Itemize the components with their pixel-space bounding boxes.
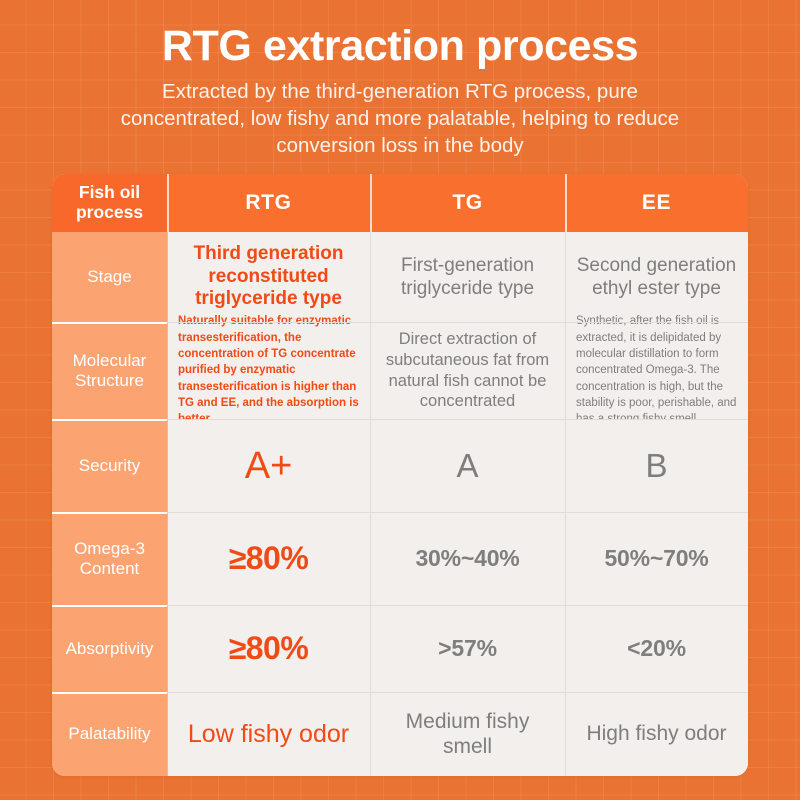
table-row-omega3-content: Omega-3 Content ≥80% 30%~40% 50%~70%	[52, 512, 748, 605]
table-row-security: Security A+ A B	[52, 419, 748, 512]
column-header-tg: TG	[370, 174, 565, 232]
cell-absorptivity-tg-text: >57%	[438, 635, 497, 662]
cell-stage-rtg-text: Third generation reconstituted triglycer…	[176, 243, 361, 311]
cell-palatability-ee: High fishy odor	[565, 692, 748, 776]
page-title: RTG extraction process	[0, 22, 800, 70]
table-header-row: Fish oil process RTG TG EE	[52, 174, 748, 232]
row-label-security: Security	[52, 419, 167, 512]
cell-molecular-rtg-text: Naturally suitable for enzymatic transes…	[176, 313, 361, 427]
comparison-table: Fish oil process RTG TG EE Stage Third g…	[52, 174, 748, 776]
cell-security-tg: A	[370, 419, 565, 512]
cell-omega3-rtg-text: ≥80%	[229, 540, 309, 577]
cell-molecular-ee-text: Synthetic, after the fish oil is extract…	[574, 313, 739, 427]
cell-molecular-ee: Synthetic, after the fish oil is extract…	[565, 322, 748, 419]
table-row-palatability: Palatability Low fishy odor Medium fishy…	[52, 692, 748, 776]
table-row-molecular-structure: Molecular Structure Naturally suitable f…	[52, 322, 748, 419]
cell-omega3-ee: 50%~70%	[565, 512, 748, 605]
column-header-ee: EE	[565, 174, 748, 232]
page-subtitle: Extracted by the third-generation RTG pr…	[0, 79, 800, 160]
cell-security-tg-text: A	[456, 449, 478, 482]
cell-absorptivity-ee: <20%	[565, 605, 748, 692]
row-label-molecular-structure: Molecular Structure	[52, 322, 167, 419]
cell-absorptivity-tg: >57%	[370, 605, 565, 692]
cell-palatability-tg: Medium fishy smell	[370, 692, 565, 776]
cell-omega3-rtg: ≥80%	[167, 512, 370, 605]
cell-omega3-ee-text: 50%~70%	[604, 545, 708, 572]
row-label-omega3-content: Omega-3 Content	[52, 512, 167, 605]
cell-security-ee-text: B	[645, 449, 667, 482]
row-label-stage: Stage	[52, 232, 167, 322]
cell-palatability-tg-text: Medium fishy smell	[379, 709, 556, 759]
cell-omega3-tg: 30%~40%	[370, 512, 565, 605]
cell-security-rtg: A+	[167, 419, 370, 512]
cell-palatability-rtg-text: Low fishy odor	[188, 720, 349, 749]
cell-absorptivity-rtg-text: ≥80%	[229, 630, 309, 667]
cell-molecular-rtg: Naturally suitable for enzymatic transes…	[167, 322, 370, 419]
page-header: RTG extraction process Extracted by the …	[0, 0, 800, 160]
cell-molecular-tg-text: Direct extraction of subcutaneous fat fr…	[379, 329, 556, 412]
column-header-rtg: RTG	[167, 174, 370, 232]
row-label-absorptivity: Absorptivity	[52, 605, 167, 692]
table-row-absorptivity: Absorptivity ≥80% >57% <20%	[52, 605, 748, 692]
table-row-stage: Stage Third generation reconstituted tri…	[52, 232, 748, 322]
cell-stage-rtg: Third generation reconstituted triglycer…	[167, 232, 370, 322]
cell-absorptivity-ee-text: <20%	[627, 635, 686, 662]
cell-omega3-tg-text: 30%~40%	[415, 545, 519, 572]
cell-palatability-ee-text: High fishy odor	[586, 721, 726, 746]
cell-absorptivity-rtg: ≥80%	[167, 605, 370, 692]
cell-stage-ee: Second generation ethyl ester type	[565, 232, 748, 322]
infographic-page: RTG extraction process Extracted by the …	[0, 0, 800, 800]
row-label-palatability: Palatability	[52, 692, 167, 776]
cell-molecular-tg: Direct extraction of subcutaneous fat fr…	[370, 322, 565, 419]
cell-stage-tg: First-generation triglyceride type	[370, 232, 565, 322]
cell-palatability-rtg: Low fishy odor	[167, 692, 370, 776]
cell-stage-tg-text: First-generation triglyceride type	[379, 254, 556, 300]
cell-security-rtg-text: A+	[245, 447, 293, 485]
column-header-fish-oil-process: Fish oil process	[52, 174, 167, 232]
cell-security-ee: B	[565, 419, 748, 512]
cell-stage-ee-text: Second generation ethyl ester type	[574, 254, 739, 300]
